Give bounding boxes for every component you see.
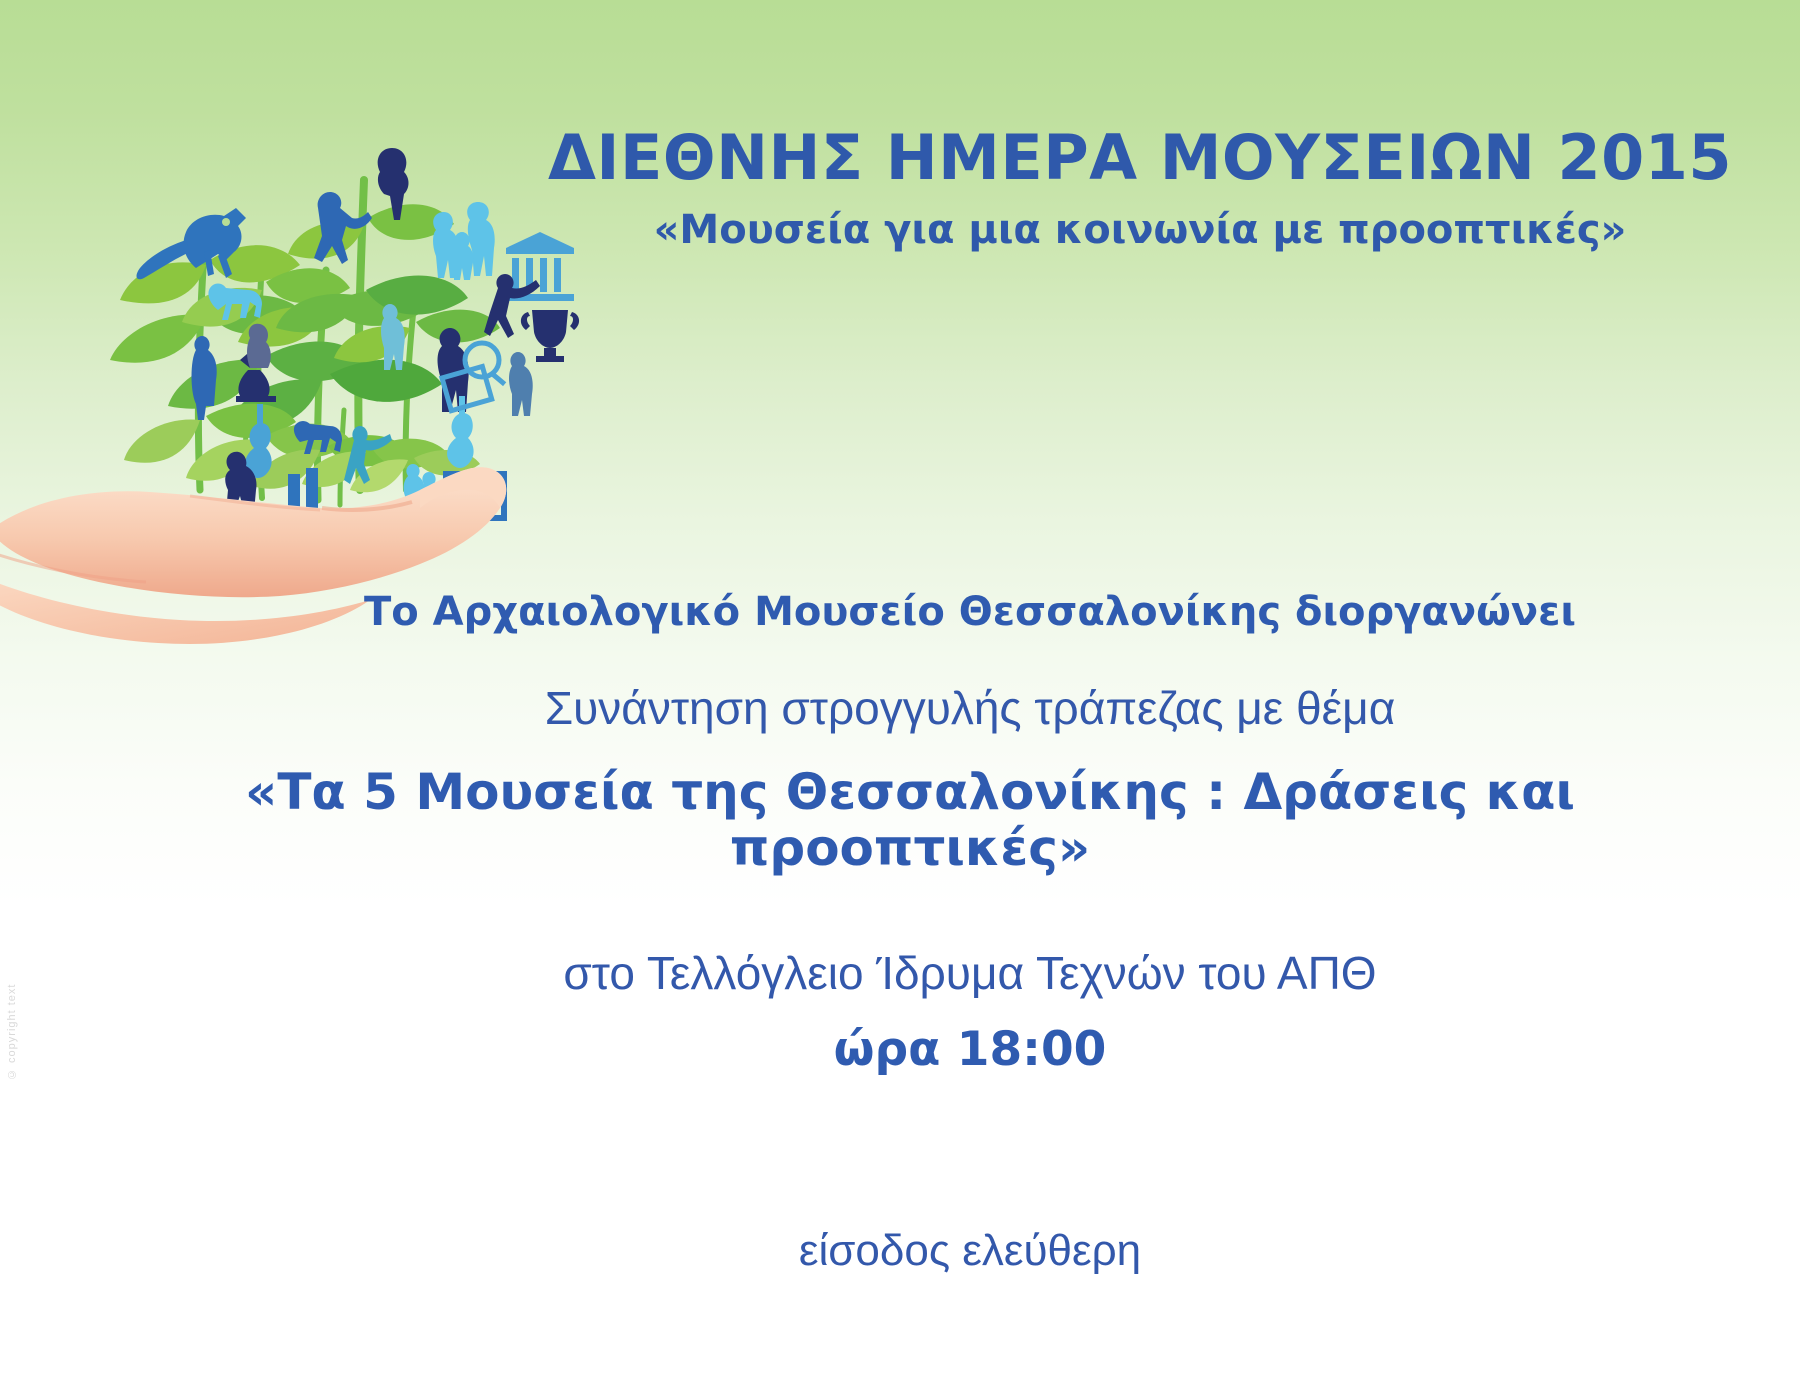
venue-line: στο Τελλόγλειο Ίδρυμα Τεχνών του ΑΠΘ bbox=[200, 948, 1740, 1000]
poster-body-block: Το Αρχαιολογικό Μουσείο Θεσσαλονίκης διο… bbox=[80, 590, 1740, 1276]
entry-line: είσοδος ελεύθερη bbox=[200, 1226, 1740, 1275]
organizer-line: Το Αρχαιολογικό Μουσείο Θεσσαλονίκης διο… bbox=[200, 590, 1740, 635]
poster-main-title: ΔΙΕΘΝΗΣ ΗΜΕΡΑ ΜΟΥΣΕΙΩΝ 2015 bbox=[500, 125, 1780, 190]
credit-text: © copyright text bbox=[6, 940, 46, 1080]
dancer-silhouette-icon bbox=[484, 274, 540, 338]
poster-canvas: ΔΙΕΘΝΗΣ ΗΜΕΡΑ ΜΟΥΣΕΙΩΝ 2015 «Μουσεία για… bbox=[0, 0, 1800, 1375]
event-topic-line: «Τα 5 Μουσεία της Θεσσαλονίκης : Δράσεις… bbox=[80, 764, 1740, 876]
trophy-cup-icon bbox=[521, 310, 579, 362]
headline-block: ΔΙΕΘΝΗΣ ΗΜΕΡΑ ΜΟΥΣΕΙΩΝ 2015 «Μουσεία για… bbox=[500, 125, 1780, 252]
poster-subtitle: «Μουσεία για μια κοινωνία με προοπτικές» bbox=[500, 208, 1780, 252]
time-line: ώρα 18:00 bbox=[200, 1024, 1740, 1077]
person-reading-icon bbox=[509, 352, 533, 416]
family-silhouette-icon bbox=[433, 202, 495, 280]
event-type-line: Συνάντηση στρογγυλής τράπεζας με θέμα bbox=[200, 683, 1740, 735]
